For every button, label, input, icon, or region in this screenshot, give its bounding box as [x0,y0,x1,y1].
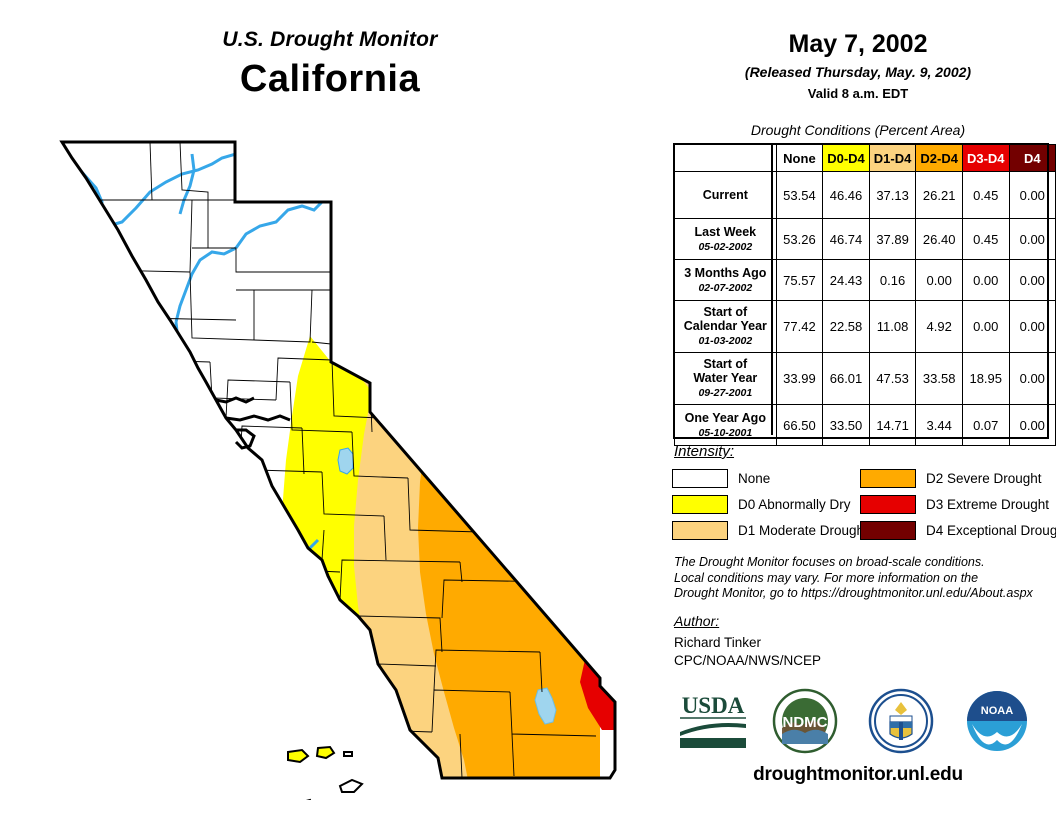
cell-oneyear-none: 66.50 [776,405,823,446]
lake-tahoe [338,448,353,474]
site-url[interactable]: droughtmonitor.unl.edu [660,764,1056,786]
cell-current-none: 53.54 [776,172,823,219]
author-affiliation: CPC/NOAA/NWS/NCEP [674,652,821,670]
row-label-date: 05-02-2002 [677,240,774,254]
valid-date: May 7, 2002 [660,30,1056,59]
notes-line-3: Drought Monitor, go to https://droughtmo… [674,586,1054,602]
row-label-3-months-ago: 3 Months Ago 02-07-2002 [675,260,777,301]
cell-wateryear-none: 33.99 [776,353,823,405]
cell-calyear-d1d4: 11.08 [869,301,916,353]
swatch-d0-icon [672,495,728,514]
col-header-none: None [776,145,823,172]
notes-line-1: The Drought Monitor focuses on broad-sca… [674,555,1054,571]
notes-line-2: Local conditions may vary. For more info… [674,571,1054,587]
col-header-d0d4: D0-D4 [823,145,870,172]
author-block: Richard Tinker CPC/NOAA/NWS/NCEP [674,634,821,670]
row-label-date: 05-10-2001 [677,426,774,440]
cell-lastweek-d2d4: 26.40 [916,219,963,260]
cell-wateryear-d3d4: 18.95 [962,353,1009,405]
row-label-one-year-ago: One Year Ago 05-10-2001 [675,405,777,446]
cell-3months-d4: 0.00 [1009,260,1055,301]
cell-3months-d2d4: 0.00 [916,260,963,301]
valid-time: Valid 8 a.m. EDT [660,86,1056,101]
cell-current-d1d4: 37.13 [869,172,916,219]
table-row: Start of Water Year 09-27-2001 33.99 66.… [675,353,1056,405]
noaa-logo[interactable]: NOAA [964,688,1030,759]
legend-item-d2: D2 Severe Drought [860,466,1056,490]
table-row: Current 53.54 46.46 37.13 26.21 0.45 0.0… [675,172,1056,219]
legend-column-left: None D0 Abnormally Dry D1 Moderate Droug… [672,466,868,544]
cell-calyear-d0d4: 22.58 [823,301,870,353]
table-row: Start of Calendar Year 01-03-2002 77.42 … [675,301,1056,353]
map-supertitle: U.S. Drought Monitor [0,28,660,52]
cell-3months-none: 75.57 [776,260,823,301]
usda-logo-text: USDA [682,693,745,718]
swatch-d2-icon [860,469,916,488]
info-panel: May 7, 2002 (Released Thursday, May. 9, … [660,0,1056,816]
drought-conditions-table: None D0-D4 D1-D4 D2-D4 D3-D4 D4 Current … [674,144,1056,446]
california-drought-map[interactable] [40,130,640,800]
row-label-start-calendar-year: Start of Calendar Year 01-03-2002 [675,301,777,353]
col-header-d1d4: D1-D4 [869,145,916,172]
swatch-d1-icon [672,521,728,540]
cell-lastweek-d1d4: 37.89 [869,219,916,260]
cell-current-d4: 0.00 [1009,172,1055,219]
author-heading: Author: [674,613,719,629]
legend-item-d0: D0 Abnormally Dry [672,492,868,516]
row-label-date: 02-07-2002 [677,281,774,295]
legend-item-d1: D1 Moderate Drought [672,518,868,542]
map-panel: U.S. Drought Monitor California [0,0,660,816]
cell-lastweek-d3d4: 0.45 [962,219,1009,260]
table-header-row: None D0-D4 D1-D4 D2-D4 D3-D4 D4 [675,145,1056,172]
cell-3months-d0d4: 24.43 [823,260,870,301]
ndmc-logo-text: NDMC [783,714,828,731]
usda-logo[interactable]: USDA [674,688,752,757]
table-row: Last Week 05-02-2002 53.26 46.74 37.89 2… [675,219,1056,260]
ndmc-logo[interactable]: NDMC [772,688,838,759]
swatch-d4-icon [860,521,916,540]
cell-oneyear-d0d4: 33.50 [823,405,870,446]
cell-wateryear-d0d4: 66.01 [823,353,870,405]
cell-lastweek-d0d4: 46.74 [823,219,870,260]
author-name: Richard Tinker [674,634,821,652]
table-row: 3 Months Ago 02-07-2002 75.57 24.43 0.16… [675,260,1056,301]
table-corner-cell [675,145,777,172]
table-row: One Year Ago 05-10-2001 66.50 33.50 14.7… [675,405,1056,446]
cell-lastweek-d4: 0.00 [1009,219,1055,260]
cell-wateryear-d1d4: 47.53 [869,353,916,405]
cell-lastweek-none: 53.26 [776,219,823,260]
cell-calyear-d2d4: 4.92 [916,301,963,353]
cell-3months-d1d4: 0.16 [869,260,916,301]
noaa-logo-text: NOAA [981,705,1013,717]
page-title: California [0,58,660,101]
row-label-text: Start of Calendar Year [684,305,767,333]
col-header-d3d4: D3-D4 [962,145,1009,172]
legend-label-d0: D0 Abnormally Dry [738,497,851,512]
row-label-date: 01-03-2002 [677,334,774,348]
date-block: May 7, 2002 (Released Thursday, May. 9, … [660,30,1056,101]
map-title-block: U.S. Drought Monitor California [0,28,660,101]
row-label-text: Current [703,188,748,202]
row-label-start-water-year: Start of Water Year 09-27-2001 [675,353,777,405]
released-date: (Released Thursday, May. 9, 2002) [660,64,1056,80]
swatch-none-icon [672,469,728,488]
row-label-text: 3 Months Ago [684,266,766,280]
row-label-current: Current [675,172,777,219]
cell-current-d0d4: 46.46 [823,172,870,219]
row-label-last-week: Last Week 05-02-2002 [675,219,777,260]
disclaimer-notes: The Drought Monitor focuses on broad-sca… [674,555,1054,602]
cell-3months-d3d4: 0.00 [962,260,1009,301]
col-header-d4: D4 [1009,145,1055,172]
cell-wateryear-d2d4: 33.58 [916,353,963,405]
row-label-text: Last Week [695,225,757,239]
row-label-text: Start of Water Year [693,357,757,385]
cell-wateryear-d4: 0.00 [1009,353,1055,405]
cell-oneyear-d1d4: 14.71 [869,405,916,446]
row-label-text: One Year Ago [685,411,766,425]
cell-calyear-d4: 0.00 [1009,301,1055,353]
cell-oneyear-d3d4: 0.07 [962,405,1009,446]
cell-current-d3d4: 0.45 [962,172,1009,219]
agency-logos: USDA NDMC [660,688,1056,758]
cell-current-d2d4: 26.21 [916,172,963,219]
cell-calyear-d3d4: 0.00 [962,301,1009,353]
cell-oneyear-d2d4: 3.44 [916,405,963,446]
legend-column-right: D2 Severe Drought D3 Extreme Drought D4 … [860,466,1056,544]
legend-item-d3: D3 Extreme Drought [860,492,1056,516]
legend-item-none: None [672,466,868,490]
swatch-d3-icon [860,495,916,514]
legend-label-none: None [738,471,770,486]
cell-calyear-none: 77.42 [776,301,823,353]
cell-oneyear-d4: 0.00 [1009,405,1055,446]
legend-label-d4: D4 Exceptional Drought [926,523,1056,538]
row-label-date: 09-27-2001 [677,386,774,400]
legend-item-d4: D4 Exceptional Drought [860,518,1056,542]
usdc-logo[interactable] [868,688,934,759]
intensity-heading: Intensity: [674,443,734,460]
table-caption: Drought Conditions (Percent Area) [660,122,1056,138]
channel-islands [288,747,362,800]
legend-label-d2: D2 Severe Drought [926,471,1042,486]
col-header-d2d4: D2-D4 [916,145,963,172]
legend-label-d3: D3 Extreme Drought [926,497,1049,512]
legend-label-d1: D1 Moderate Drought [738,523,868,538]
